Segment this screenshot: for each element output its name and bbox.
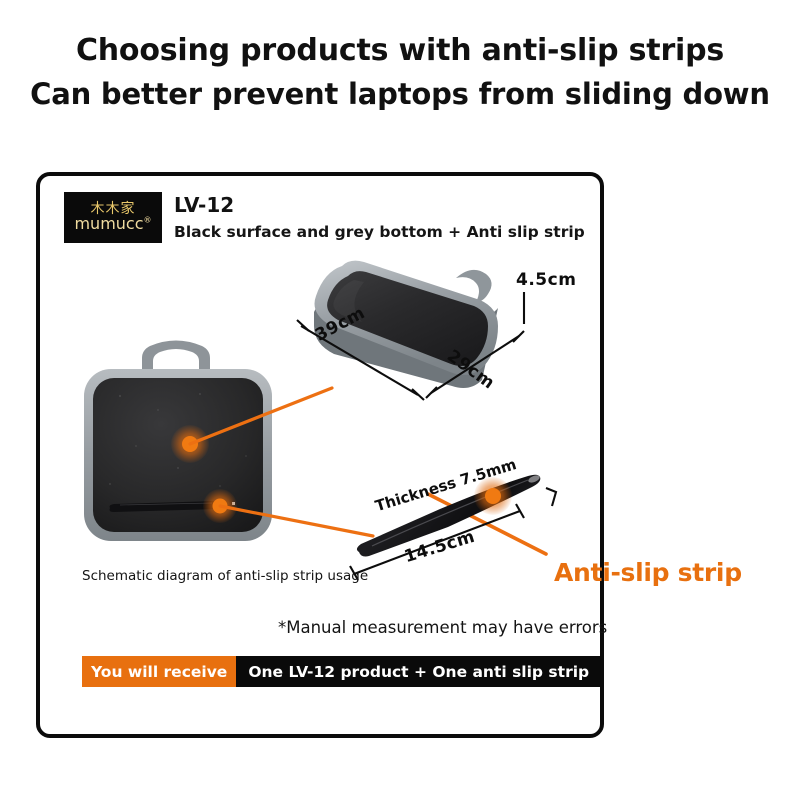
logo-latin-text: mumucc® (74, 216, 151, 233)
connector-line-label (428, 494, 546, 554)
product-info-card: 木木家 mumucc® LV-12 Black surface and grey… (36, 172, 604, 738)
brand-text-block: LV-12 Black surface and grey bottom + An… (174, 192, 585, 243)
model-description: Black surface and grey bottom + Anti sli… (174, 222, 585, 243)
connector-line-top (190, 388, 332, 444)
lap-desk-front-view (80, 336, 276, 551)
surface-texture (109, 393, 247, 507)
lap-desk-top-view (302, 254, 508, 392)
desk-grey-body (84, 369, 272, 541)
dimension-width-label: 29cm (443, 346, 498, 394)
tray-side-slab (314, 297, 498, 388)
logo-latin-word: mumucc (74, 214, 143, 233)
surface-speck (232, 502, 235, 505)
callout-marker-top (171, 425, 209, 463)
callout-marker-bottom (203, 489, 237, 523)
tray-grey-rim (315, 261, 499, 375)
strip-highlight (120, 503, 212, 505)
strip-length-label: 14.5cm (402, 527, 477, 567)
anti-slip-strip-on-desk (110, 501, 227, 512)
strip-body (357, 475, 540, 557)
anti-slip-strip-callout: Anti-slip strip (554, 558, 742, 587)
mumucc-logo: 木木家 mumucc® (64, 192, 162, 243)
connector-line-strip (220, 506, 373, 536)
carry-handle (456, 270, 492, 302)
tray-black-surface (327, 271, 488, 366)
registered-trademark-icon: ® (144, 216, 152, 225)
dimension-length-label: 39cm (312, 303, 369, 346)
dimension-leader-lines (295, 288, 560, 418)
strip-tip-highlight (527, 474, 540, 484)
strip-thickness-label: Thickness 7.5mm (373, 455, 519, 515)
headline-block: Choosing products with anti-slip strips … (0, 28, 800, 117)
headline-line-2: Can better prevent laptops from sliding … (0, 73, 800, 117)
callout-marker-strip (474, 477, 512, 515)
receive-contents-label: One LV-12 product + One anti slip strip (236, 656, 601, 687)
brand-row: 木木家 mumucc® LV-12 Black surface and grey… (64, 192, 585, 243)
strip-dimension-lines (340, 466, 580, 586)
callout-connector-lines (40, 176, 600, 734)
strip-sheen (372, 480, 528, 546)
product-illustration: 39cm 29cm 4.5cm (40, 176, 600, 734)
carry-handle-front (142, 341, 210, 371)
desk-black-surface (93, 378, 263, 532)
dimension-height-label: 4.5cm (516, 270, 576, 290)
measurement-note: *Manual measurement may have errors (278, 618, 607, 637)
schematic-caption: Schematic diagram of anti-slip strip usa… (82, 568, 368, 584)
anti-slip-strip-detail (352, 464, 562, 574)
headline-line-1: Choosing products with anti-slip strips (0, 28, 800, 73)
model-name: LV-12 (174, 193, 585, 218)
you-will-receive-bar: You will receive One LV-12 product + One… (82, 656, 601, 687)
receive-tag-label: You will receive (82, 656, 236, 687)
tray-sheen (333, 280, 364, 322)
